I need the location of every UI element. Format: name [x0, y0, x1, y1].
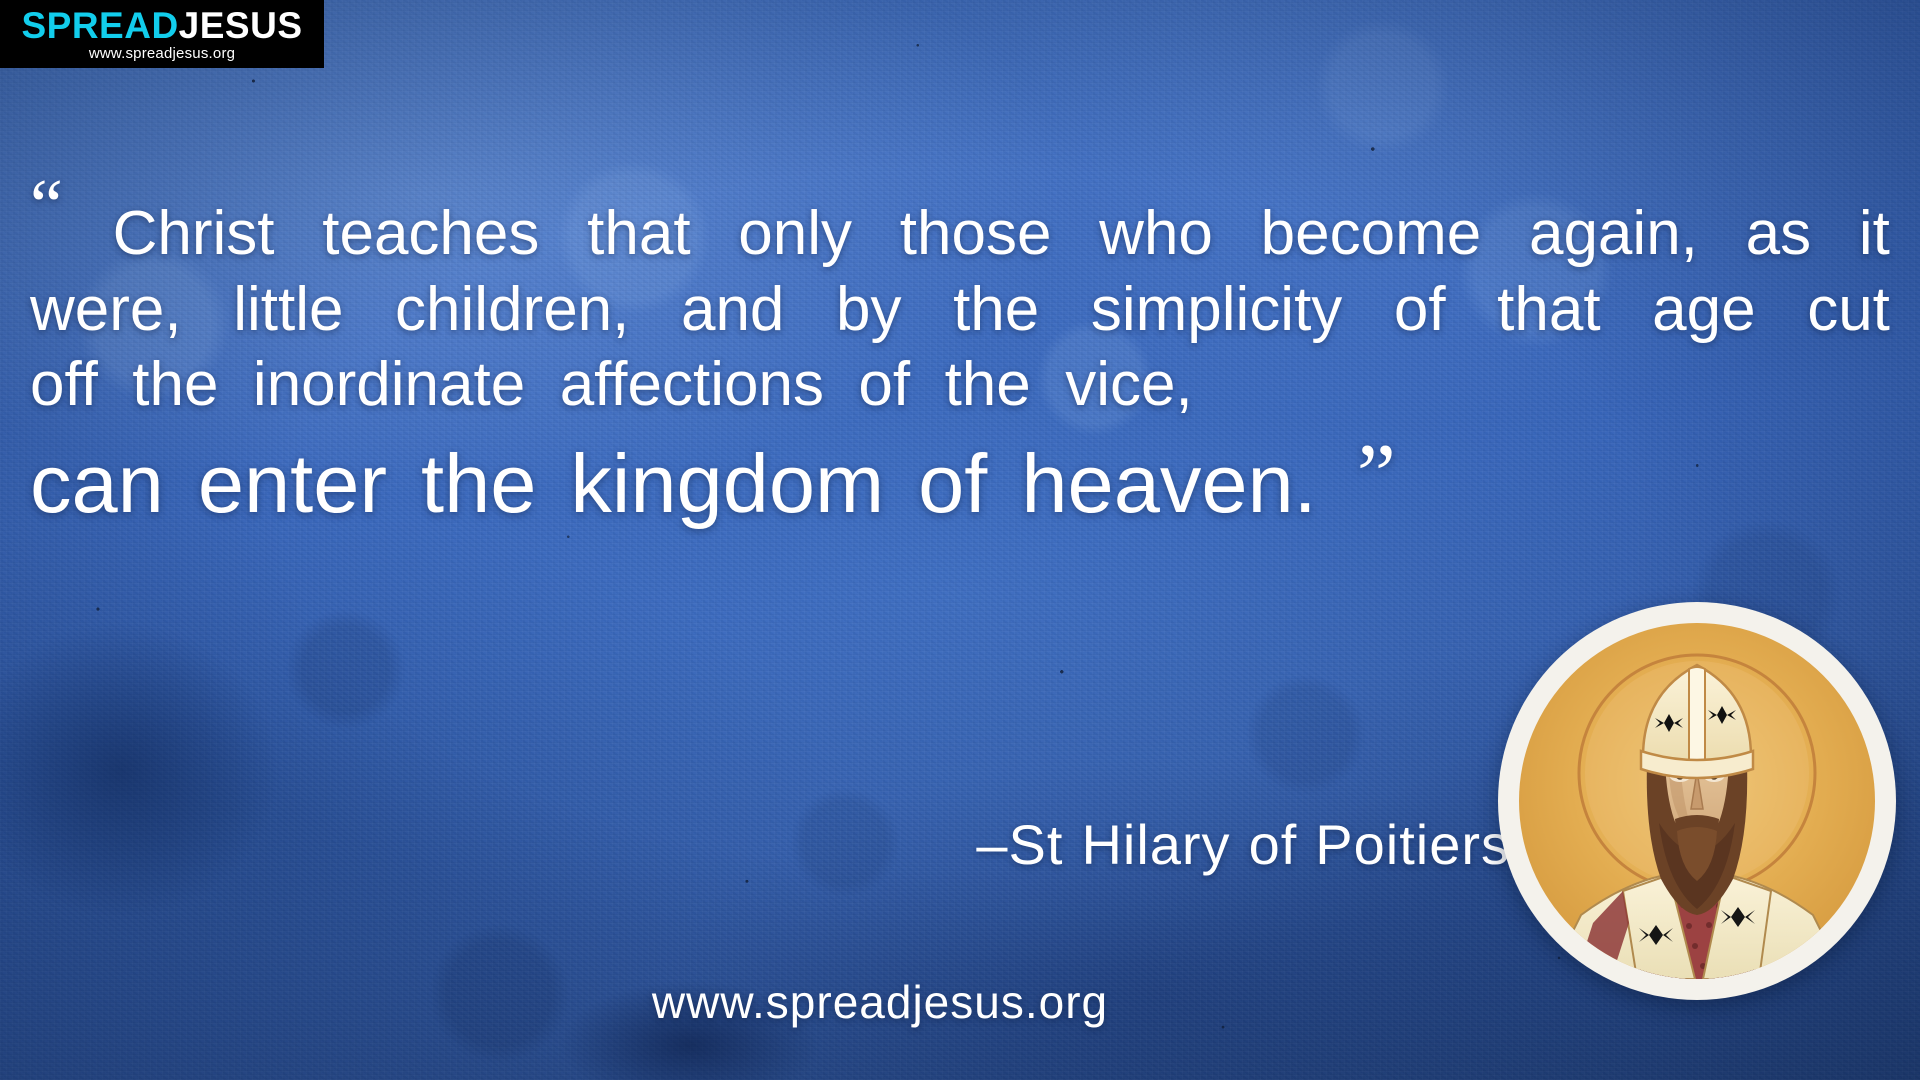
quote-word: little — [233, 272, 343, 348]
saint-icon-illustration — [1519, 623, 1875, 979]
quote-word: affections — [560, 347, 824, 423]
footer-url: www.spreadjesus.org — [0, 975, 1760, 1029]
quote-word: of — [858, 347, 910, 423]
logo-wordmark-spread: SPREAD — [21, 5, 178, 46]
logo-wordmark-jesus: JESUS — [179, 5, 303, 46]
quote-line: were,littlechildren,andbythesimplicityof… — [30, 272, 1890, 348]
quote-emphasis-word: enter — [198, 435, 387, 533]
quote-block: “Christteachesthatonlythosewhobecomeagai… — [30, 196, 1890, 533]
quote-word: those — [900, 196, 1052, 272]
quote-word: children, — [395, 272, 629, 348]
quote-word: Christ — [113, 196, 275, 272]
quote-word: who — [1099, 196, 1213, 272]
quote-emphasis-word: of — [918, 435, 987, 533]
quote-word: only — [738, 196, 852, 272]
quote-word: become — [1261, 196, 1482, 272]
logo-url: www.spreadjesus.org — [89, 46, 235, 61]
quote-attribution: –StHilaryofPoitiers — [0, 812, 1510, 877]
attribution-word: Poitiers — [1315, 813, 1510, 876]
quote-emphasis-word: heaven. — [1021, 435, 1316, 533]
quote-word: were, — [30, 272, 182, 348]
quote-word: the — [945, 347, 1031, 423]
quote-word: again, — [1529, 196, 1698, 272]
quote-word: off — [30, 347, 98, 423]
quote-word: by — [836, 272, 901, 348]
quote-word: that — [1497, 272, 1600, 348]
site-logo-badge: SPREADJESUS www.spreadjesus.org — [0, 0, 324, 68]
quote-word: the — [132, 347, 218, 423]
quote-poster: SPREADJESUS www.spreadjesus.org “Christt… — [0, 0, 1920, 1080]
quote-word: cut — [1807, 272, 1890, 348]
quote-line: “Christteachesthatonlythosewhobecomeagai… — [30, 196, 1890, 272]
attribution-word: Hilary — [1081, 813, 1230, 876]
quote-word: as — [1746, 196, 1811, 272]
quote-lines: “Christteachesthatonlythosewhobecomeagai… — [30, 196, 1890, 423]
quote-open-mark: “ — [30, 206, 63, 282]
attribution-dash: – — [976, 813, 1008, 876]
attribution-word: St — [1009, 813, 1064, 876]
logo-wordmark: SPREADJESUS — [21, 7, 302, 44]
quote-word: that — [587, 196, 690, 272]
quote-word: the — [953, 272, 1039, 348]
attribution-word: of — [1249, 813, 1298, 876]
quote-emphasis-word: kingdom — [570, 435, 884, 533]
quote-word: simplicity — [1091, 272, 1342, 348]
quote-word: it — [1859, 196, 1890, 272]
quote-word: teaches — [322, 196, 539, 272]
quote-word: and — [681, 272, 784, 348]
quote-word: age — [1652, 272, 1755, 348]
quote-emphasis-word: the — [421, 435, 536, 533]
quote-emphasis-line: canenterthekingdomofheaven.” — [30, 435, 1890, 533]
saint-portrait-image — [1519, 623, 1875, 979]
saint-portrait-medallion — [1498, 602, 1896, 1000]
quote-word: vice, — [1065, 347, 1192, 423]
quote-emphasis-word: can — [30, 435, 164, 533]
quote-line: off the inordinate affections of the vic… — [30, 347, 1890, 423]
quote-word: of — [1394, 272, 1446, 348]
quote-word: inordinate — [253, 347, 525, 423]
